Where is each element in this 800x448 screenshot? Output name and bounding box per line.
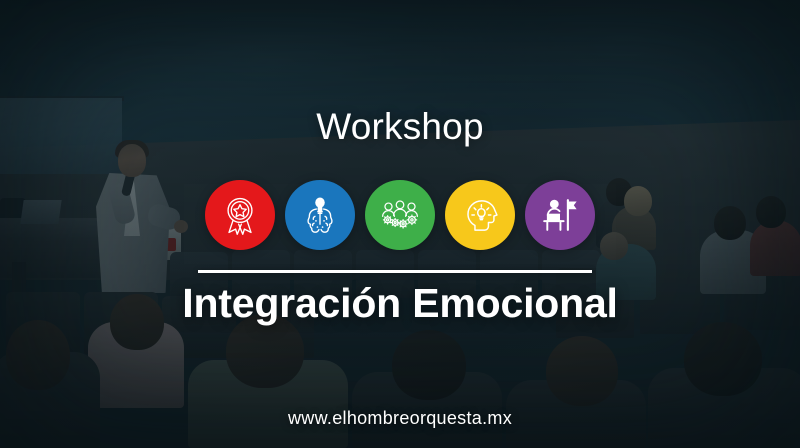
poster-headline: Integración Emocional bbox=[0, 280, 800, 327]
workshop-poster: Workshop bbox=[0, 0, 800, 448]
head-idea-icon bbox=[445, 180, 515, 250]
icon-row bbox=[0, 180, 800, 250]
team-gears-icon bbox=[365, 180, 435, 250]
poster-content: Workshop bbox=[0, 0, 800, 448]
poster-kicker: Workshop bbox=[0, 108, 800, 145]
title-divider bbox=[198, 270, 592, 273]
presenter-flag-icon bbox=[525, 180, 595, 250]
award-ribbon-icon bbox=[205, 180, 275, 250]
brain-lightbulb-icon bbox=[285, 180, 355, 250]
website-url: www.elhombreorquesta.mx bbox=[0, 408, 800, 429]
